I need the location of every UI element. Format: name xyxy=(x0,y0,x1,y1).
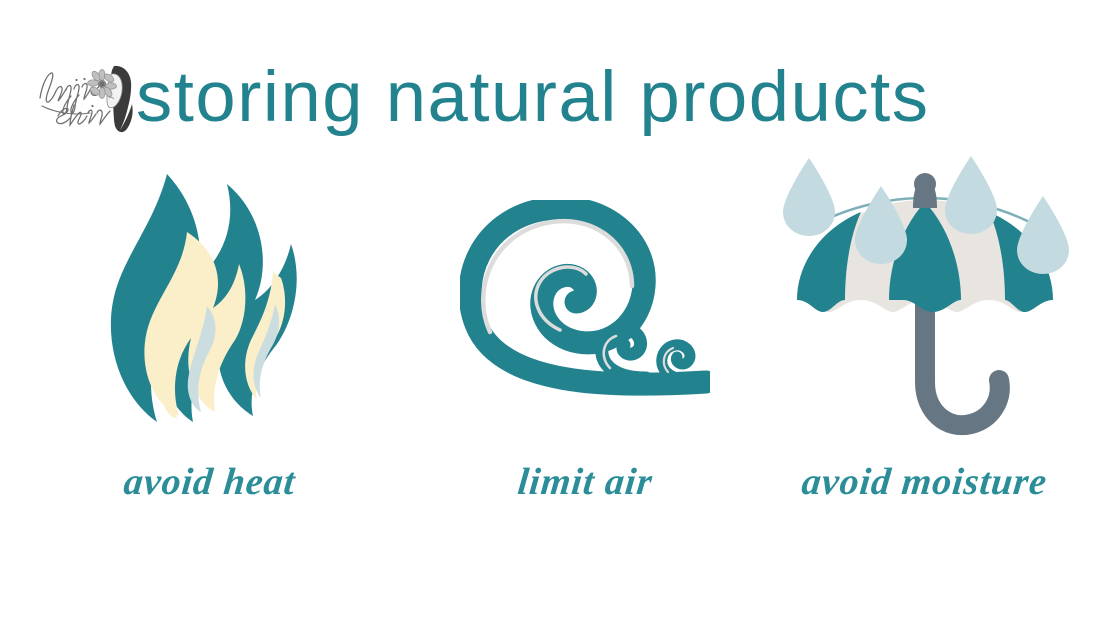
tip-caption-limit-air: limit air xyxy=(515,460,654,504)
page-title: storing natural products xyxy=(136,52,930,144)
umbrella-icon xyxy=(750,150,1100,450)
flame-icon xyxy=(0,150,420,450)
tip-caption-avoid-moisture: avoid moisture xyxy=(800,460,1050,504)
header: storing natural products xyxy=(0,52,1100,144)
tip-caption-avoid-heat: avoid heat xyxy=(122,460,298,504)
tip-avoid-moisture: avoid moisture xyxy=(750,150,1100,530)
infographic-canvas: storing natural products xyxy=(0,0,1100,619)
wave-spiral-icon xyxy=(420,150,750,450)
hippie-skin-logo xyxy=(28,60,136,134)
tip-limit-air: limit air xyxy=(420,150,750,530)
tip-avoid-heat: avoid heat xyxy=(0,150,420,530)
tips-row: avoid heat xyxy=(0,150,1100,530)
